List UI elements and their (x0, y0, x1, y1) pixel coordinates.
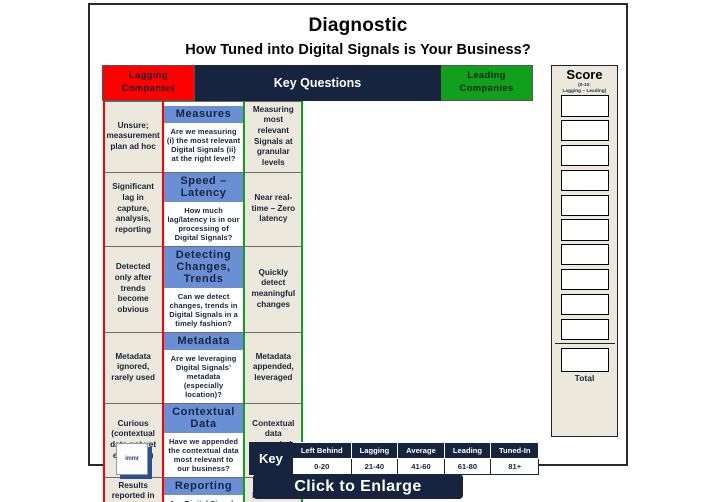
key-band-name: Lagging (351, 443, 398, 459)
lagging-header-line2: Companies (105, 83, 192, 96)
score-subtitle: (0-10: Lagging – Leading) (563, 82, 607, 93)
question-topic: Speed – Latency (164, 173, 244, 202)
logo-text: immr (125, 456, 139, 462)
matrix-row: Significant lag in capture, analysis, re… (104, 172, 303, 246)
screenshot-root: Diagnostic How Tuned into Digital Signal… (0, 0, 715, 502)
leading-cell: Measuring most relevant Signals at granu… (244, 101, 302, 172)
key-legend-value-row: 0-20 21-40 41-60 61-80 81+ (250, 459, 539, 475)
score-input[interactable] (561, 145, 609, 166)
score-input[interactable] (561, 219, 609, 240)
question-text: Are we measuring (i) the most relevant D… (164, 123, 244, 167)
matrix-row: Unsure; measurement plan ad hocMeasuresA… (104, 101, 303, 172)
question-cell: ReportingAre Digital Signals reported by… (163, 477, 245, 502)
diagnostic-slide: Diagnostic How Tuned into Digital Signal… (88, 3, 628, 466)
question-text: Are we leveraging Digital Signals’ metad… (164, 350, 244, 403)
question-topic: Reporting (164, 478, 244, 495)
score-input[interactable] (561, 269, 609, 290)
click-to-enlarge-label: Click to Enlarge (294, 478, 421, 496)
question-topic: Measures (164, 106, 244, 123)
score-input[interactable] (561, 195, 609, 216)
key-legend: Key Left Behind Lagging Average Leading … (249, 442, 539, 475)
question-text: Have we appended the contextual data mos… (164, 433, 244, 477)
score-input[interactable] (561, 170, 609, 191)
question-cell: Speed – LatencyHow much lag/latency is i… (163, 172, 245, 246)
leading-cell: Metadata appended, leveraged (244, 332, 302, 403)
column-header-leading: Leading Companies (441, 66, 533, 101)
column-header-lagging: Lagging Companies (103, 66, 195, 101)
lagging-cell: Unsure; measurement plan ad hoc (104, 101, 163, 172)
company-logo: immr (116, 443, 152, 479)
matrix-header-row: Lagging Companies Key Questions Leading … (103, 66, 533, 101)
key-band-range: 0-20 (292, 459, 351, 475)
lagging-cell: Metadata ignored, rarely used (104, 332, 163, 403)
total-score-input[interactable] (561, 348, 609, 372)
key-band-range: 41-60 (398, 459, 445, 475)
question-cell: MeasuresAre we measuring (i) the most re… (163, 101, 245, 172)
key-band-name: Tuned-In (490, 443, 539, 459)
matrix-table: Lagging Companies Key Questions Leading … (102, 65, 533, 502)
score-subtitle-line2: Lagging – Leading) (563, 88, 607, 94)
total-label: Total (575, 373, 595, 383)
question-text: Are Digital Signals reported by geograph… (164, 495, 244, 502)
question-cell: MetadataAre we leveraging Digital Signal… (163, 332, 245, 403)
score-column: Score (0-10: Lagging – Leading) Total (551, 65, 618, 437)
question-text: Can we detect changes, trends in Digital… (164, 288, 244, 332)
page-title: Diagnostic (90, 15, 626, 37)
leading-cell: Near real-time – Zero latency (244, 172, 302, 246)
score-input[interactable] (561, 319, 609, 340)
score-input[interactable] (561, 244, 609, 265)
logo-face: immr (116, 443, 148, 475)
click-to-enlarge-button[interactable]: Click to Enlarge (253, 474, 463, 499)
score-input[interactable] (561, 120, 609, 141)
lagging-header-line1: Lagging (105, 70, 192, 83)
key-band-name: Leading (444, 443, 490, 459)
key-band-range: 61-80 (444, 459, 490, 475)
score-divider (555, 343, 615, 344)
matrix-row: Detected only after trends become obviou… (104, 246, 303, 332)
key-band-name: Average (398, 443, 445, 459)
key-band-range: 81+ (490, 459, 539, 475)
column-header-key-questions: Key Questions (195, 66, 441, 101)
score-boxes (561, 95, 609, 339)
score-input[interactable] (561, 95, 609, 116)
question-topic: Contextual Data (164, 404, 244, 433)
key-legend-header-row: Key Left Behind Lagging Average Leading … (250, 443, 539, 459)
question-cell: Contextual DataHave we appended the cont… (163, 403, 245, 477)
question-cell: Detecting Changes, TrendsCan we detect c… (163, 246, 245, 332)
page-subtitle: How Tuned into Digital Signals is Your B… (90, 42, 626, 58)
matrix-row: Metadata ignored, rarely usedMetadataAre… (104, 332, 303, 403)
lagging-cell: Detected only after trends become obviou… (104, 246, 163, 332)
matrix-rows-host: Unsure; measurement plan ad hocMeasuresA… (103, 101, 195, 502)
lagging-cell: Results reported in the aggregate, by st… (104, 477, 163, 502)
lagging-cell: Significant lag in capture, analysis, re… (104, 172, 163, 246)
question-topic: Metadata (164, 333, 244, 350)
score-title: Score (566, 68, 602, 81)
key-band-name: Left Behind (292, 443, 351, 459)
key-legend-table: Key Left Behind Lagging Average Leading … (249, 442, 539, 475)
leading-cell: Quickly detect meaningful changes (244, 246, 302, 332)
question-topic: Detecting Changes, Trends (164, 247, 244, 288)
key-legend-label: Key (250, 443, 293, 475)
score-input[interactable] (561, 294, 609, 315)
slide-titles: Diagnostic How Tuned into Digital Signal… (90, 5, 626, 58)
diagnostic-grid: Lagging Companies Key Questions Leading … (102, 65, 618, 502)
key-band-range: 21-40 (351, 459, 398, 475)
leading-header-line1: Leading (443, 70, 530, 83)
leading-header-line2: Companies (443, 83, 530, 96)
question-text: How much lag/latency is in our processin… (164, 202, 244, 246)
